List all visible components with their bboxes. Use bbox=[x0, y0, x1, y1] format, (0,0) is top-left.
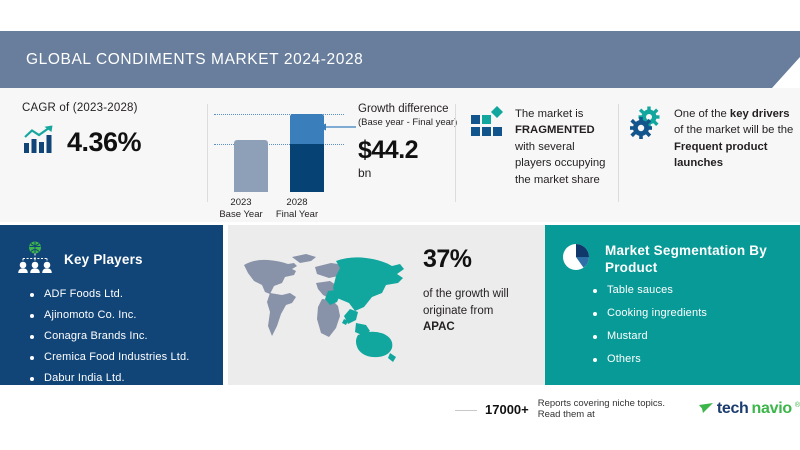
list-item: Table sauces bbox=[593, 285, 800, 296]
list-item: Mustard bbox=[593, 331, 800, 342]
growth-annotation-sub: (Base year - Final year) bbox=[358, 117, 468, 128]
apac-line-1: of the growth will bbox=[423, 288, 509, 300]
list-item: Others bbox=[593, 354, 800, 365]
logo-text-tech: tech bbox=[717, 400, 749, 418]
apac-percent: 37% bbox=[423, 245, 543, 274]
segmentation-list: Table sauces Cooking ingredients Mustard… bbox=[593, 285, 800, 365]
drivers-line-2: of the market will be the bbox=[674, 124, 793, 136]
technavio-logo[interactable]: technavio® bbox=[698, 400, 800, 418]
apac-map-panel: 37% of the growth will originate from AP… bbox=[228, 225, 545, 385]
pie-chart-icon bbox=[561, 240, 595, 279]
growth-annotation-title: Growth difference bbox=[358, 102, 468, 116]
growth-chart: 2023 Base Year 2028 Final Year bbox=[214, 98, 344, 208]
technavio-arrow-icon bbox=[698, 402, 714, 416]
key-players-title: Key Players bbox=[64, 252, 143, 268]
growth-unit: bn bbox=[358, 166, 468, 180]
logo-text-navio: navio bbox=[752, 400, 792, 418]
drivers-bold-3: launches bbox=[674, 157, 723, 169]
fragmented-squares-icon bbox=[470, 106, 504, 188]
growth-value: $44.2 bbox=[358, 136, 468, 165]
key-players-header: Key Players bbox=[0, 225, 223, 280]
cagr-value: 4.36% bbox=[67, 127, 141, 158]
panels-band: Key Players ADF Foods Ltd. Ajinomoto Co.… bbox=[0, 225, 800, 385]
world-map-icon bbox=[240, 247, 410, 367]
segmentation-header: Market Segmentation By Product bbox=[545, 225, 800, 279]
drivers-line-1: One of the bbox=[674, 108, 730, 120]
logo-trademark: ® bbox=[795, 402, 800, 409]
bar-final-year-caption: Final Year bbox=[269, 209, 325, 221]
gears-icon bbox=[630, 106, 664, 172]
frag-bold-1: FRAGMENTED bbox=[515, 124, 595, 136]
bar-base-year-value: 2023 bbox=[213, 197, 269, 209]
footer-divider bbox=[455, 410, 477, 411]
bar-base-year-caption: Base Year bbox=[213, 209, 269, 221]
list-item: Ajinomoto Co. Inc. bbox=[30, 310, 223, 321]
segmentation-title: Market Segmentation By Product bbox=[605, 243, 800, 275]
bar-final-year-value: 2028 bbox=[269, 197, 325, 209]
bar-label-base: 2023 Base Year bbox=[213, 197, 269, 221]
footer-report-count: 17000+ bbox=[485, 402, 529, 417]
divider-3 bbox=[618, 104, 619, 202]
frag-line-1: The market is bbox=[515, 108, 583, 120]
globe-people-icon bbox=[16, 241, 54, 280]
list-item: Cremica Food Industries Ltd. bbox=[30, 352, 223, 363]
frag-line-4: the market share bbox=[515, 174, 600, 186]
divider-1 bbox=[207, 104, 208, 202]
fragmented-block: The market is FRAGMENTED with several pl… bbox=[470, 106, 615, 188]
drivers-bold-2: Frequent product bbox=[674, 141, 768, 153]
infographic-page: GLOBAL CONDIMENTS MARKET 2024-2028 CAGR … bbox=[0, 0, 800, 450]
segmentation-panel: Market Segmentation By Product Table sau… bbox=[545, 225, 800, 385]
list-item: Cooking ingredients bbox=[593, 308, 800, 319]
list-item: Conagra Brands Inc. bbox=[30, 331, 223, 342]
key-players-panel: Key Players ADF Foods Ltd. Ajinomoto Co.… bbox=[0, 225, 223, 385]
frag-line-3: players occupying bbox=[515, 157, 605, 169]
key-players-list: ADF Foods Ltd. Ajinomoto Co. Inc. Conagr… bbox=[30, 289, 223, 384]
apac-description: of the growth will originate from APAC bbox=[423, 286, 543, 336]
drivers-bold-1: key drivers bbox=[730, 108, 790, 120]
page-title: GLOBAL CONDIMENTS MARKET 2024-2028 bbox=[0, 51, 363, 69]
apac-text-block: 37% of the growth will originate from AP… bbox=[423, 245, 543, 336]
apac-line-2: originate from bbox=[423, 305, 493, 317]
fragmented-text: The market is FRAGMENTED with several pl… bbox=[515, 106, 605, 188]
growth-difference-block: Growth difference (Base year - Final yea… bbox=[358, 102, 468, 180]
footer-content: 17000+ Reports covering niche topics. Re… bbox=[485, 398, 800, 420]
apac-region: APAC bbox=[423, 321, 455, 333]
bar-base-year bbox=[234, 140, 268, 192]
metrics-band: CAGR of (2023-2028) 4.36% bbox=[0, 88, 800, 222]
bar-chart-growth-icon bbox=[22, 125, 58, 160]
cagr-label: CAGR of (2023-2028) bbox=[22, 102, 202, 114]
list-item: Dabur India Ltd. bbox=[30, 373, 223, 384]
header-bar: GLOBAL CONDIMENTS MARKET 2024-2028 bbox=[0, 31, 800, 88]
drivers-text: One of the key drivers of the market wil… bbox=[674, 106, 793, 172]
pointer-arrow-icon bbox=[318, 123, 356, 131]
list-item: ADF Foods Ltd. bbox=[30, 289, 223, 300]
key-drivers-block: One of the key drivers of the market wil… bbox=[630, 106, 795, 172]
divider-2 bbox=[455, 104, 456, 202]
frag-line-2: with several bbox=[515, 141, 575, 153]
footer: 17000+ Reports covering niche topics. Re… bbox=[0, 385, 800, 450]
footer-tagline: Reports covering niche topics. Read them… bbox=[538, 398, 671, 420]
cagr-block: CAGR of (2023-2028) 4.36% bbox=[22, 102, 202, 160]
bar-label-final: 2028 Final Year bbox=[269, 197, 325, 221]
